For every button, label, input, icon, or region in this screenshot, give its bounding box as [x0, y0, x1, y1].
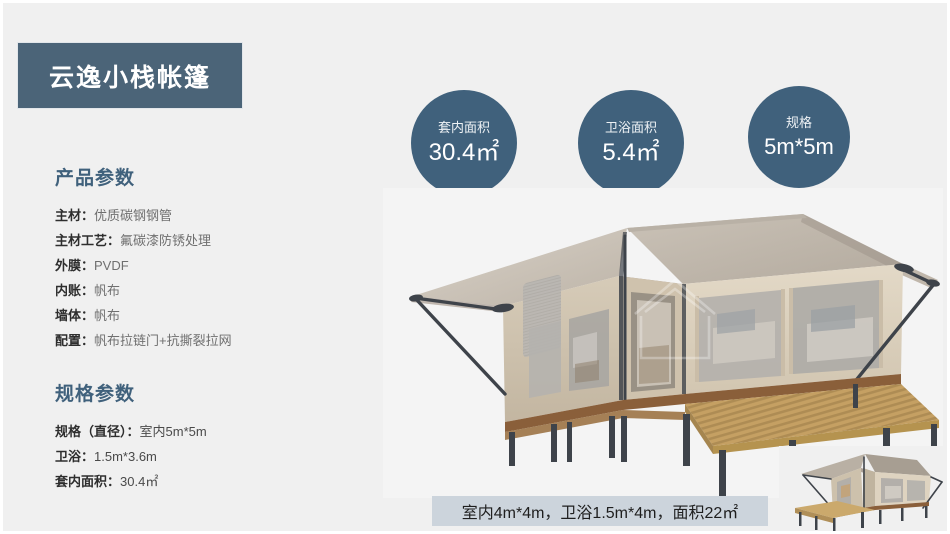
stat-value: 30.4㎡ [429, 141, 500, 165]
stat-badge-bathroom-area: 卫浴面积 5.4㎡ [578, 90, 684, 196]
spec-row: 主材：优质碳钢钢管 [55, 203, 355, 228]
spec-column: 产品参数 主材：优质碳钢钢管 主材工艺：氟碳漆防锈处理 外膜：PVDF 内账：帆… [55, 163, 355, 494]
spec-group-product: 产品参数 主材：优质碳钢钢管 主材工艺：氟碳漆防锈处理 外膜：PVDF 内账：帆… [55, 163, 355, 353]
spec-label: 墙体： [55, 308, 94, 323]
spec-label: 内账： [55, 283, 94, 298]
spec-group-specification: 规格参数 规格（直径）：室内5m*5m 卫浴：1.5m*3.6m 套内面积：30… [55, 379, 355, 494]
spec-value: 30.4㎡ [120, 474, 158, 489]
stat-label: 套内面积 [438, 121, 490, 134]
section-heading-product: 产品参数 [55, 163, 355, 190]
title-banner: 云逸小栈帐篷 [17, 42, 243, 109]
stat-label: 卫浴面积 [605, 121, 657, 134]
stat-label: 规格 [786, 116, 812, 129]
spec-list-product: 主材：优质碳钢钢管 主材工艺：氟碳漆防锈处理 外膜：PVDF 内账：帆布 墙体：… [55, 203, 355, 353]
spec-value: 室内5m*5m [140, 424, 207, 439]
section-heading-specification: 规格参数 [55, 379, 355, 406]
spec-value: 氟碳漆防锈处理 [120, 233, 211, 248]
spec-value: 优质碳钢钢管 [94, 208, 172, 223]
spec-value: 帆布 [94, 283, 120, 298]
spec-row: 套内面积：30.4㎡ [55, 469, 355, 494]
spec-value: PVDF [94, 258, 129, 273]
spec-row: 规格（直径）：室内5m*5m [55, 419, 355, 444]
slide-canvas: 云逸小栈帐篷 产品参数 主材：优质碳钢钢管 主材工艺：氟碳漆防锈处理 外膜：PV… [0, 0, 950, 534]
spec-value: 帆布 [94, 308, 120, 323]
spec-value: 帆布拉链门+抗撕裂拉网 [94, 333, 232, 348]
spec-list-specification: 规格（直径）：室内5m*5m 卫浴：1.5m*3.6m 套内面积：30.4㎡ [55, 419, 355, 494]
tent-render-thumbnail[interactable] [779, 446, 947, 534]
spec-label: 主材工艺： [55, 233, 120, 248]
stat-badge-interior-area: 套内面积 30.4㎡ [411, 90, 517, 196]
spec-label: 配置： [55, 333, 94, 348]
spec-row: 外膜：PVDF [55, 253, 355, 278]
spec-row: 主材工艺：氟碳漆防锈处理 [55, 228, 355, 253]
caption-bar: 室内4m*4m，卫浴1.5m*4m，面积22㎡ [432, 496, 768, 526]
page-title: 云逸小栈帐篷 [49, 58, 211, 94]
stat-value: 5m*5m [764, 136, 834, 158]
caption-text: 室内4m*4m，卫浴1.5m*4m，面积22㎡ [462, 499, 739, 523]
stat-value: 5.4㎡ [602, 141, 659, 165]
spec-label: 外膜： [55, 258, 94, 273]
spec-label: 套内面积： [55, 474, 120, 489]
spec-label: 卫浴： [55, 449, 94, 464]
spec-label: 规格（直径）： [55, 424, 140, 439]
spec-row: 卫浴：1.5m*3.6m [55, 444, 355, 469]
spec-value: 1.5m*3.6m [94, 449, 157, 464]
spec-row: 内账：帆布 [55, 278, 355, 303]
spec-label: 主材： [55, 208, 94, 223]
stat-badge-dimensions: 规格 5m*5m [748, 86, 850, 188]
spec-row: 配置：帆布拉链门+抗撕裂拉网 [55, 328, 355, 353]
spec-row: 墙体：帆布 [55, 303, 355, 328]
